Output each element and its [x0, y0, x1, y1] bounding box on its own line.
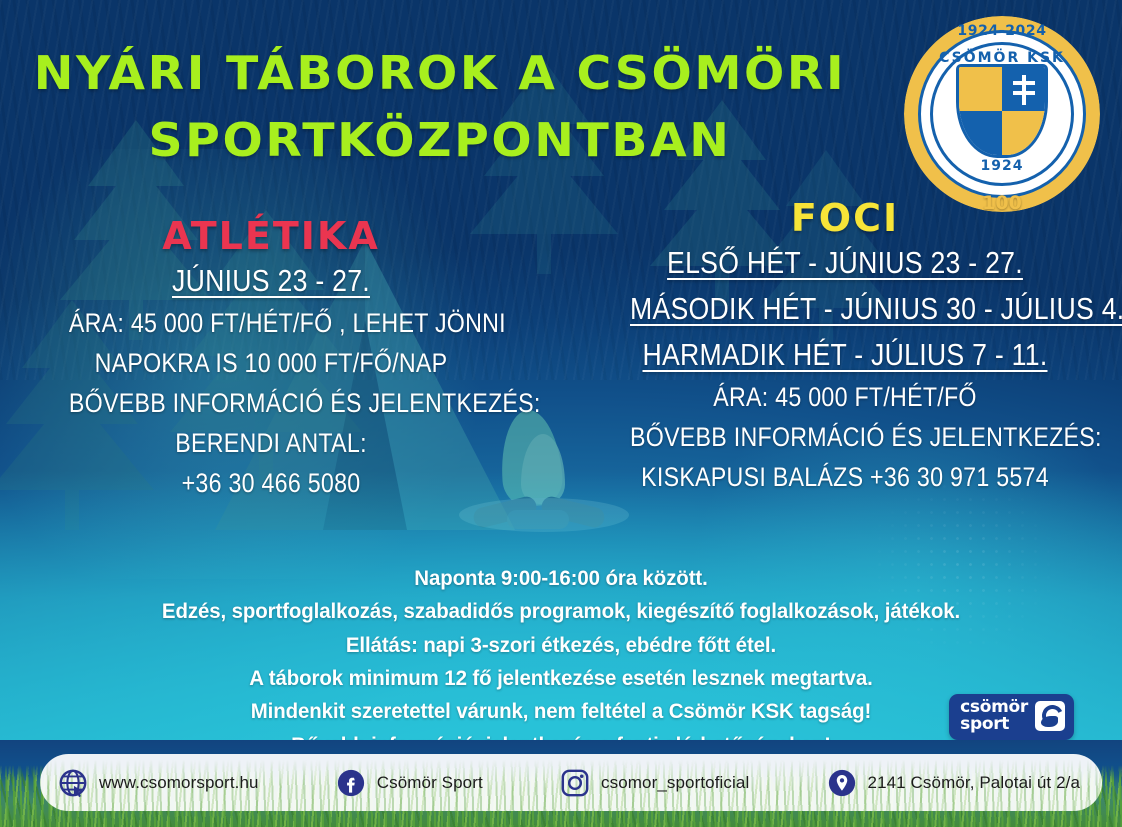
double-cross-icon: [1022, 75, 1026, 105]
football-week-1: ELSŐ HÉT - JÚNIUS 23 - 27.: [630, 240, 1060, 286]
poster-root: NYÁRI TÁBOROK A CSÖMÖRI SPORTKÖZPONTBAN …: [0, 0, 1122, 827]
athletics-date: JÚNIUS 23 - 27.: [69, 258, 473, 304]
info-line-membership: Mindenkit szeretettel várunk, nem feltét…: [28, 695, 1094, 728]
football-week-3: HARMADIK HÉT - JÚLIUS 7 - 11.: [630, 332, 1060, 378]
page-title: NYÁRI TÁBOROK A CSÖMÖRI SPORTKÖZPONTBAN: [28, 40, 852, 173]
athletics-contact-phone[interactable]: +36 30 466 5080: [69, 464, 473, 504]
instagram-icon: [560, 768, 590, 798]
sport-logo-mark-icon: [1035, 701, 1065, 731]
contact-facebook[interactable]: Csömör Sport: [336, 768, 483, 798]
info-line-schedule: Naponta 9:00-16:00 óra között.: [28, 562, 1094, 595]
athletics-contact-name: BERENDI ANTAL:: [69, 424, 473, 464]
club-crest-logo: 1924-2024 CSÖMÖR KSK 1924 100: [904, 16, 1100, 212]
instagram-label: csomor_sportoficial: [601, 773, 749, 793]
athletics-price: ÁRA: 45 000 FT/HÉT/FŐ , LEHET JÖNNI: [69, 304, 473, 344]
shield-quarter-sheaf: [1002, 111, 1045, 155]
shield-quarter-cross: [1002, 67, 1045, 111]
globe-icon: [58, 768, 88, 798]
address-label: 2141 Csömör, Palotai út 2/a: [868, 773, 1081, 793]
crest-shield-icon: [956, 64, 1048, 158]
facebook-icon: [336, 768, 366, 798]
headline-line-1: NYÁRI TÁBOROK A CSÖMÖRI: [34, 46, 846, 100]
shield-quarter-grapes: [959, 111, 1002, 155]
athletics-title: ATLÉTIKA: [36, 214, 506, 258]
football-title: FOCI: [595, 196, 1095, 240]
shield-quarter-wheat: [959, 67, 1002, 111]
football-info-label: BŐVEBB INFORMÁCIÓ ÉS JELENTKEZÉS:: [630, 418, 1060, 458]
website-label: www.csomorsport.hu: [99, 773, 259, 793]
contact-pill: www.csomorsport.hu Csömör Sport: [40, 754, 1102, 811]
sport-logo-line-2: sport: [960, 716, 1028, 733]
info-line-activities: Edzés, sportfoglalkozás, szabadidős prog…: [28, 595, 1094, 628]
contact-website[interactable]: www.csomorsport.hu: [58, 768, 259, 798]
athletics-daily-price: NAPOKRA IS 10 000 FT/FŐ/NAP: [69, 344, 473, 384]
csomor-sport-logo: csömör sport: [949, 694, 1074, 740]
headline-line-2: SPORTKÖZPONTBAN: [28, 107, 852, 174]
info-line-minimum: A táborok minimum 12 fő jelentkezése ese…: [28, 662, 1094, 695]
crest-founded-year: 1924: [904, 158, 1100, 174]
football-price: ÁRA: 45 000 FT/HÉT/FŐ: [630, 378, 1060, 418]
football-contact[interactable]: KISKAPUSI BALÁZS +36 30 971 5574: [630, 458, 1060, 498]
footer-bar: www.csomorsport.hu Csömör Sport: [0, 740, 1122, 827]
info-line-meals: Ellátás: napi 3-szori étkezés, ebédre fő…: [28, 629, 1094, 662]
csomor-sport-wordmark: csömör sport: [960, 699, 1028, 734]
contact-address[interactable]: 2141 Csömör, Palotai út 2/a: [827, 768, 1081, 798]
athletics-column: ATLÉTIKA JÚNIUS 23 - 27. ÁRA: 45 000 FT/…: [36, 214, 506, 504]
football-column: FOCI ELSŐ HÉT - JÚNIUS 23 - 27. MÁSODIK …: [595, 196, 1095, 497]
location-pin-icon: [827, 768, 857, 798]
football-week-2: MÁSODIK HÉT - JÚNIUS 30 - JÚLIUS 4.: [630, 286, 1060, 332]
facebook-label: Csömör Sport: [377, 773, 483, 793]
contact-instagram[interactable]: csomor_sportoficial: [560, 768, 749, 798]
athletics-info-label: BŐVEBB INFORMÁCIÓ ÉS JELENTKEZÉS:: [69, 384, 473, 424]
crest-years: 1924-2024: [904, 23, 1100, 39]
